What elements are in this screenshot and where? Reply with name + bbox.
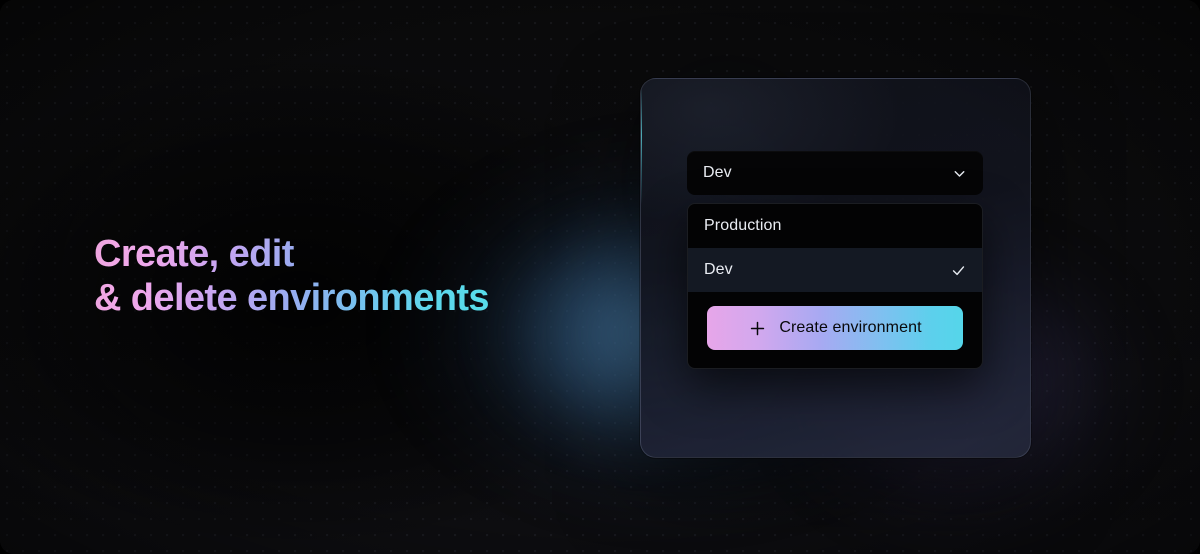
background-vignette	[0, 0, 1200, 554]
promo-banner: Create, edit & delete environments Dev P…	[0, 0, 1200, 554]
